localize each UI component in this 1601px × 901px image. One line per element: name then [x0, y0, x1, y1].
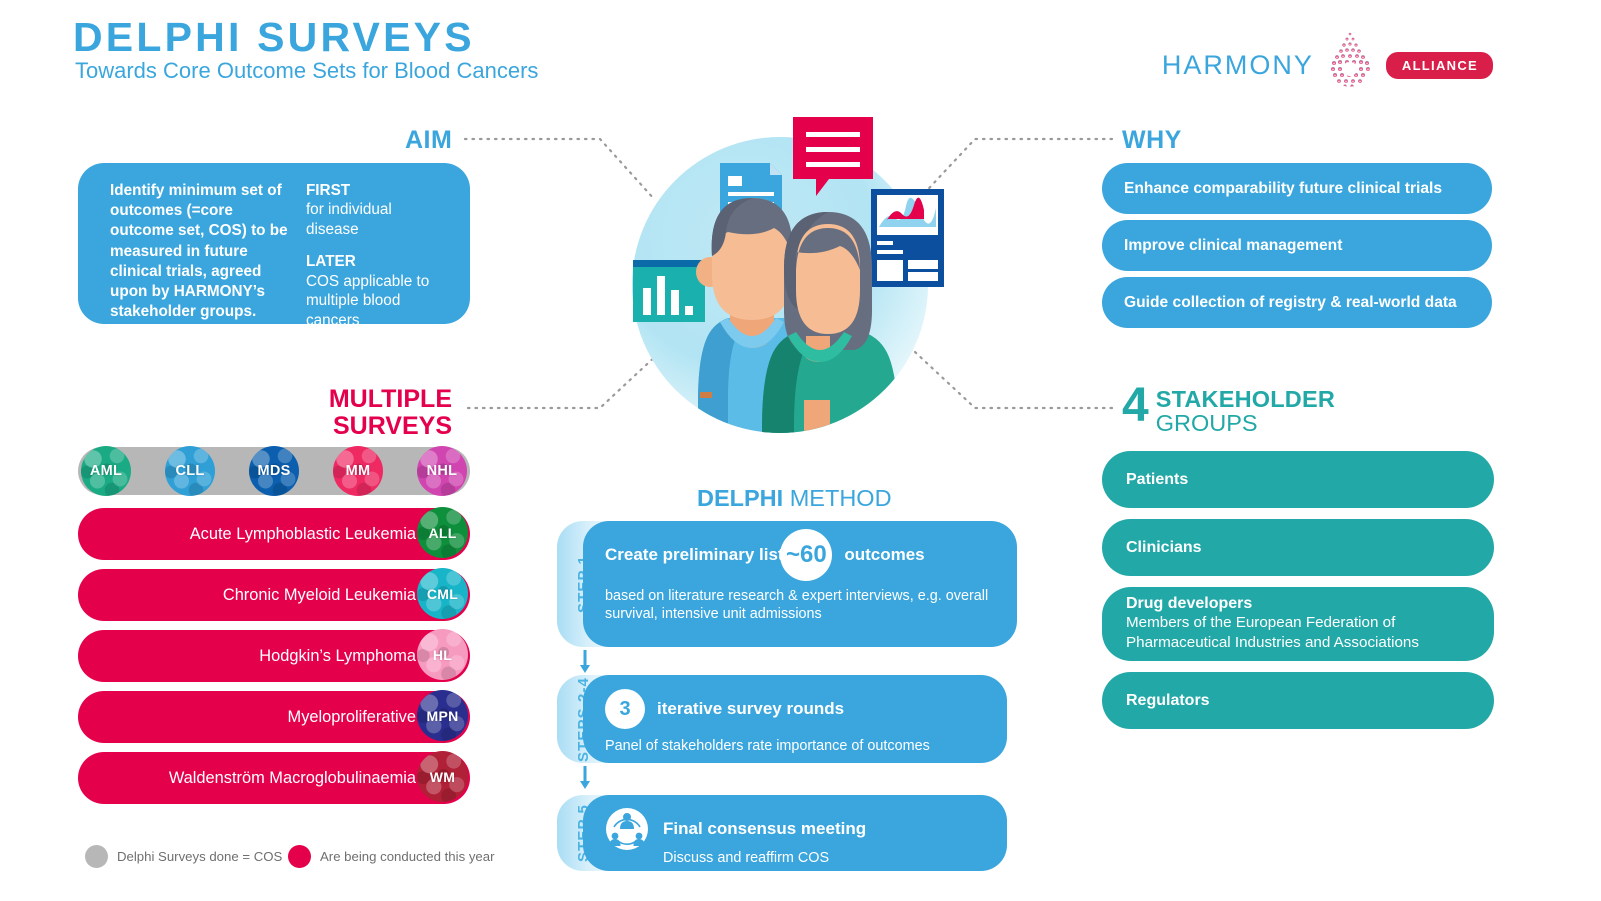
step-title-before: Create preliminary list of [605, 545, 804, 565]
step-title-after: outcomes [844, 545, 924, 565]
survey-row-label: Hodgkin’s Lymphoma [259, 647, 416, 666]
survey-badge-mm[interactable]: MM [333, 446, 383, 496]
legend-label-done: Delphi Surveys done = COS [117, 849, 282, 864]
step-subtitle: based on literature research & expert in… [605, 587, 995, 624]
infographic-root: DELPHI SURVEYS Towards Core Outcome Sets… [0, 0, 1601, 901]
aim-later-text: COS applicable to multiple blood cancers [306, 273, 429, 329]
step-body[interactable]: Final consensus meetingDiscuss and reaff… [583, 795, 1007, 871]
delphi-step: STEP 1Create preliminary list of~60outco… [557, 521, 1017, 647]
survey-row-label: Chronic Myeloid Leukemia [223, 586, 416, 605]
aim-side-text: FIRST for individual disease LATER COS a… [306, 181, 448, 308]
step-flow-arrow [578, 766, 590, 790]
dashboard-icon [871, 189, 944, 287]
completed-surveys-strip: AMLCLLMDSMMNHL [78, 447, 470, 495]
stakeholder-title: Regulators [1126, 692, 1470, 710]
sg-heading-line2: GROUPS [1156, 412, 1335, 436]
survey-row[interactable]: Acute Lymphoblastic LeukemiaALL [78, 508, 470, 560]
aim-first-text: for individual disease [306, 201, 392, 237]
stakeholder-item[interactable]: Regulators [1102, 672, 1494, 729]
survey-badge-cll[interactable]: CLL [165, 446, 215, 496]
aim-later-label: LATER [306, 252, 448, 271]
stakeholders-count: 4 [1122, 385, 1149, 427]
survey-row-badge-hl[interactable]: HL [417, 629, 468, 680]
step-title: 3iterative survey rounds [605, 689, 985, 729]
survey-row[interactable]: Hodgkin’s LymphomaHL [78, 630, 470, 682]
step-title: Create preliminary list of~60outcomes [605, 535, 995, 575]
survey-badge-label: NHL [427, 463, 458, 479]
two-people-data-illustration [600, 100, 960, 440]
survey-row-badge-cml[interactable]: CML [417, 568, 468, 619]
multiple-surveys-heading: MULTIPLE SURVEYS [300, 386, 452, 440]
dm-heading-bold: DELPHI [697, 485, 783, 511]
step-subtitle: Panel of stakeholders rate importance of… [605, 737, 985, 755]
legend-dot-grey [85, 845, 108, 868]
delphi-step: STEP 5 Final consensus meetingDiscuss an… [557, 795, 1007, 871]
step-count-badge: ~60 [780, 529, 832, 581]
meeting-icon [605, 807, 649, 851]
survey-row-badge-wm[interactable]: WM [417, 751, 468, 802]
stakeholder-item[interactable]: Drug developersMembers of the European F… [1102, 587, 1494, 661]
step-body[interactable]: 3iterative survey roundsPanel of stakeho… [583, 675, 1007, 763]
aim-box: Identify minimum set of outcomes (=core … [78, 163, 470, 324]
why-item[interactable]: Guide collection of registry & real-worl… [1102, 277, 1492, 328]
ms-heading-line1: MULTIPLE [300, 386, 452, 413]
why-heading: WHY [1122, 126, 1182, 155]
survey-badge-label: CLL [175, 463, 204, 479]
step-title-after: Final consensus meeting [663, 819, 866, 839]
stakeholder-item[interactable]: Clinicians [1102, 519, 1494, 576]
survey-row-label: Acute Lymphoblastic Leukemia [190, 525, 416, 544]
survey-row-badge-label: ALL [428, 525, 456, 541]
why-item[interactable]: Improve clinical management [1102, 220, 1492, 271]
step-count-badge: 3 [605, 689, 645, 729]
stakeholder-list: PatientsCliniciansDrug developersMembers… [1102, 451, 1494, 740]
survey-badge-mds[interactable]: MDS [249, 446, 299, 496]
survey-row[interactable]: Waldenström MacroglobulinaemiaWM [78, 752, 470, 804]
stakeholder-title: Patients [1126, 471, 1470, 489]
stakeholder-subtitle: Members of the European Federation of Ph… [1126, 613, 1470, 653]
stakeholder-title: Drug developers [1126, 595, 1470, 613]
survey-row-badge-mpn[interactable]: MPN [417, 690, 468, 741]
survey-row[interactable]: Chronic Myeloid LeukemiaCML [78, 569, 470, 621]
stakeholder-item[interactable]: Patients [1102, 451, 1494, 508]
survey-row-label: Waldenström Macroglobulinaemia [169, 769, 416, 788]
aim-main-text: Identify minimum set of outcomes (=core … [110, 181, 290, 308]
survey-badge-label: MDS [257, 463, 290, 479]
step-body[interactable]: Create preliminary list of~60outcomesbas… [583, 521, 1017, 647]
survey-badge-label: AML [90, 463, 122, 479]
legend-item-done: Delphi Surveys done = COS [85, 845, 282, 868]
why-item[interactable]: Enhance comparability future clinical tr… [1102, 163, 1492, 214]
stakeholder-title: Clinicians [1126, 539, 1470, 557]
survey-row[interactable]: MyeloproliferativeMPN [78, 691, 470, 743]
delphi-method-heading: DELPHI METHOD [697, 485, 892, 512]
survey-row-badge-label: WM [430, 769, 455, 785]
survey-row-badge-label: HL [433, 647, 452, 663]
legend-item-ongoing: Are being conducted this year [288, 845, 494, 868]
step-flow-arrow [578, 650, 590, 674]
survey-badge-aml[interactable]: AML [81, 446, 131, 496]
step-subtitle: Discuss and reaffirm COS [663, 849, 985, 867]
survey-row-label: Myeloproliferative [288, 708, 416, 727]
step-title: Final consensus meeting [605, 807, 985, 851]
why-list: Enhance comparability future clinical tr… [1102, 163, 1492, 334]
delphi-step: STEPS 2-43iterative survey roundsPanel o… [557, 675, 1007, 763]
survey-badge-nhl[interactable]: NHL [417, 446, 467, 496]
sg-heading-line1: STAKEHOLDER [1156, 386, 1335, 412]
stakeholders-heading-words: STAKEHOLDER GROUPS [1156, 385, 1335, 436]
stakeholders-heading: 4 STAKEHOLDER GROUPS [1122, 385, 1335, 436]
survey-row-badge-all[interactable]: ALL [417, 507, 468, 558]
dm-heading-rest: METHOD [783, 485, 891, 511]
survey-row-badge-label: MPN [426, 708, 458, 724]
ms-heading-line2: SURVEYS [300, 413, 452, 440]
step-title-after: iterative survey rounds [657, 699, 844, 719]
bar-chart-icon [633, 260, 705, 322]
survey-badge-label: MM [346, 463, 371, 479]
legend-dot-pink [288, 845, 311, 868]
aim-first-label: FIRST [306, 181, 448, 200]
survey-row-badge-label: CML [427, 586, 458, 602]
aim-heading: AIM [405, 126, 452, 155]
meeting-icon [605, 807, 649, 851]
legend-label-ongoing: Are being conducted this year [320, 849, 494, 864]
